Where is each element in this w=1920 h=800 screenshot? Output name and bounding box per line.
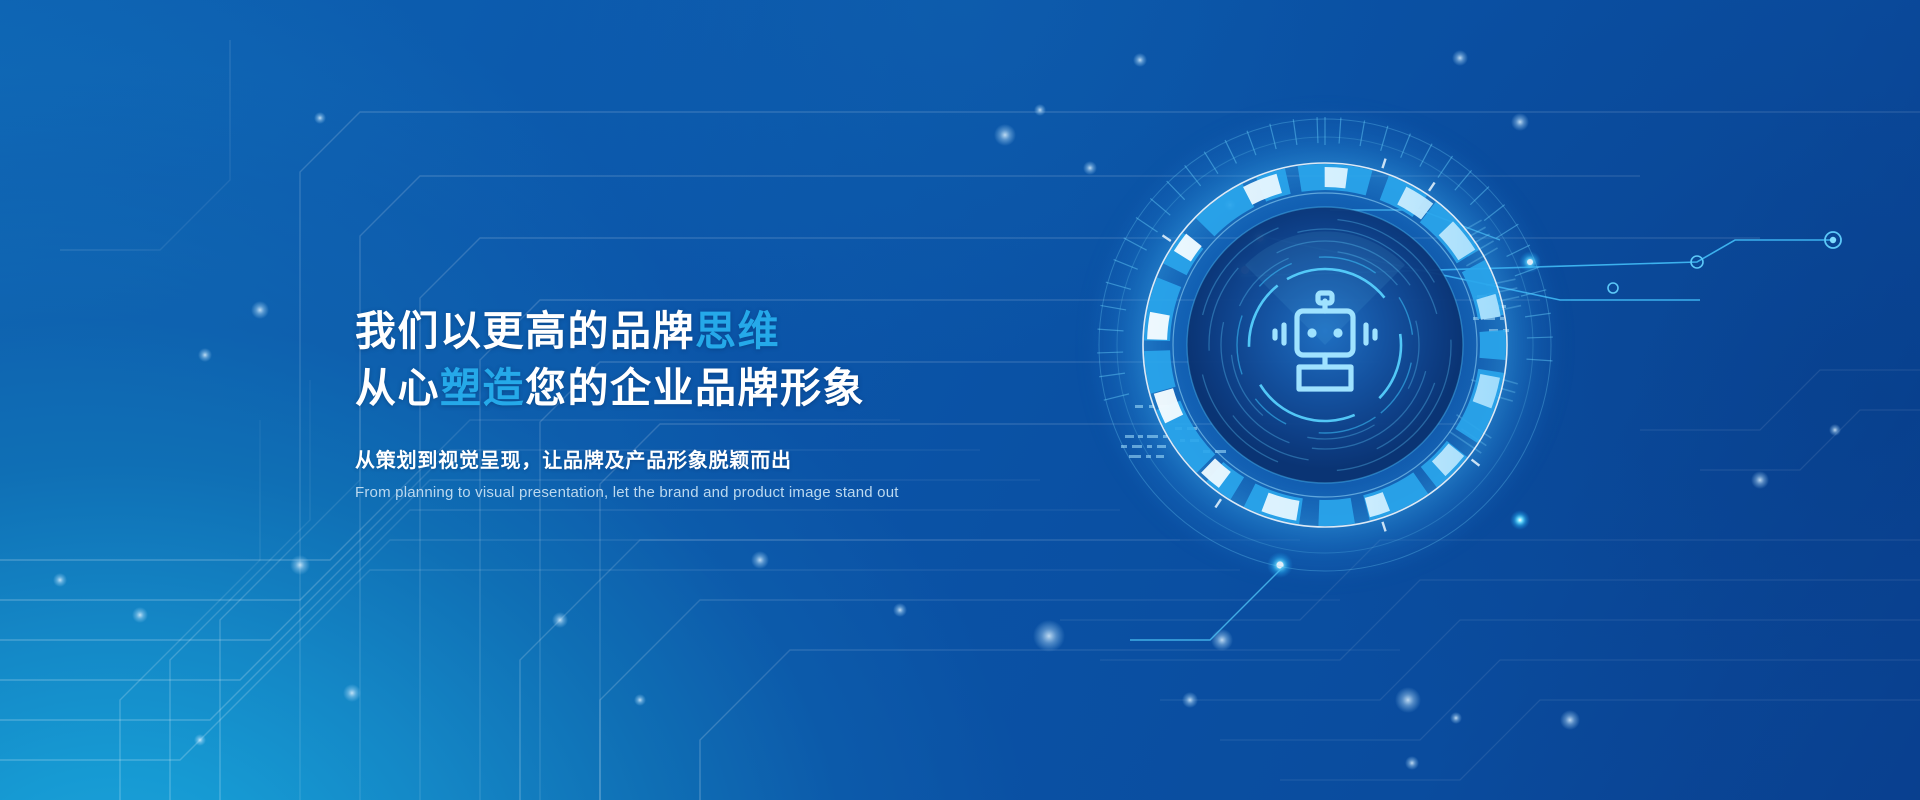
headline-line-2-suffix: 您的企业品牌形象 (525, 365, 865, 411)
subtitle-english: From planning to visual presentation, le… (355, 482, 1095, 504)
headline-line-2: 从心塑造您的企业品牌形象 (355, 360, 1095, 417)
hero-copy: 我们以更高的品牌思维 从心塑造您的企业品牌形象 从策划到视觉呈现，让品牌及产品形… (355, 303, 1095, 504)
headline-line-1-prefix: 我们以更高的品牌 (355, 308, 695, 354)
headline-line-2-prefix: 从心 (355, 365, 440, 411)
headline-line-2-accent: 塑造 (440, 365, 525, 411)
connector-node-group (1608, 232, 1841, 293)
subtitle-chinese: 从策划到视觉呈现，让品牌及产品形象脱颖而出 (355, 447, 1095, 476)
hud-emblem (1085, 105, 1565, 585)
headline-line-1: 我们以更高的品牌思维 (355, 303, 1095, 360)
headline-line-1-accent: 思维 (695, 308, 780, 354)
hero-banner: 我们以更高的品牌思维 从心塑造您的企业品牌形象 从策划到视觉呈现，让品牌及产品形… (0, 0, 1920, 800)
